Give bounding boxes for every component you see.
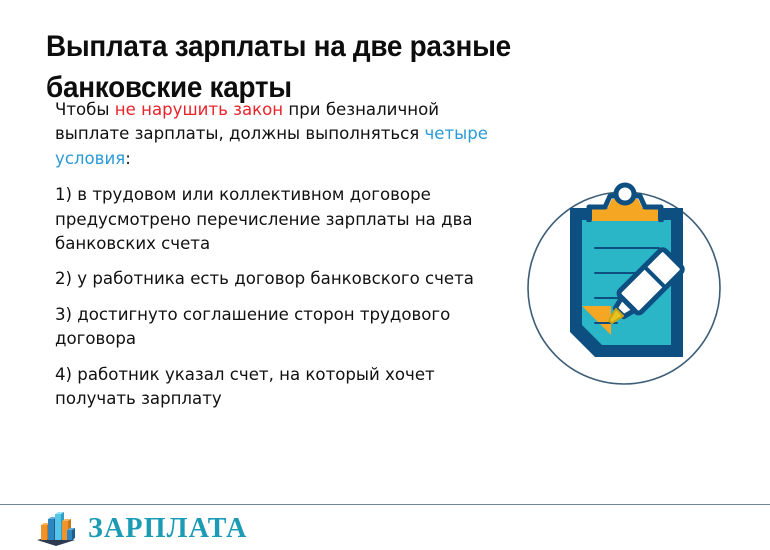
page-title: Выплата зарплаты на две разные банковски…: [46, 26, 641, 108]
intro-text-part1: Чтобы: [55, 100, 115, 120]
list-item: 3) достигнуто соглашение сторон трудовог…: [55, 303, 509, 352]
intro-text-part3: :: [125, 149, 131, 169]
intro-highlight-red: не нарушить закон: [115, 100, 283, 120]
footer-brand-text: ЗАРПЛАТА: [88, 515, 248, 543]
clip-ring-icon: [616, 185, 634, 203]
intro-paragraph: Чтобы не нарушить закон при безналичной …: [55, 98, 509, 171]
bar-chart-logo-icon: [33, 510, 79, 548]
list-item: 2) у работника есть договор банковского …: [55, 267, 509, 291]
list-item: 4) работник указал счет, на который хоче…: [55, 363, 509, 412]
footer-divider: [0, 504, 770, 505]
list-item: 1) в трудовом или коллективном договоре …: [55, 183, 509, 256]
clipboard-illustration: [525, 182, 725, 398]
slide: Выплата зарплаты на две разные банковски…: [0, 0, 770, 550]
footer: ЗАРПЛАТА: [33, 508, 248, 550]
body-text-column: Чтобы не нарушить закон при безналичной …: [55, 98, 525, 411]
